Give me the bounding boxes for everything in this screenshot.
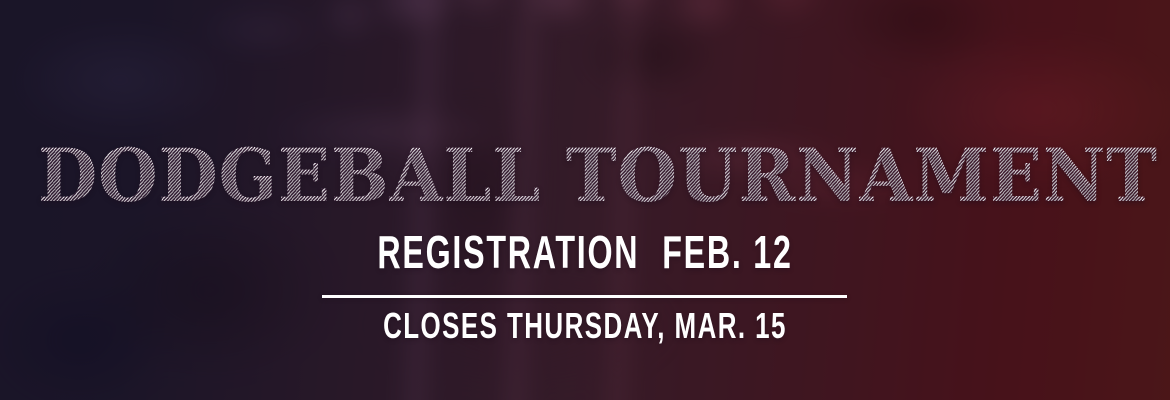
closing-text: CLOSES THURSDAY, MAR. 15 bbox=[383, 305, 787, 346]
section-divider bbox=[322, 295, 847, 298]
event-promo-banner: DODGEBALL TOURNAMENT REGISTRATION FEB. 1… bbox=[0, 0, 1170, 400]
registration-line: REGISTRATION FEB. 12 bbox=[176, 229, 995, 275]
banner-content: DODGEBALL TOURNAMENT REGISTRATION FEB. 1… bbox=[0, 0, 1170, 400]
registration-label: REGISTRATION bbox=[377, 226, 639, 278]
registration-spacer bbox=[639, 226, 662, 278]
registration-date: FEB. 12 bbox=[662, 226, 792, 278]
headline-text: DODGEBALL TOURNAMENT bbox=[38, 140, 1158, 213]
closing-line: CLOSES THURSDAY, MAR. 15 bbox=[164, 308, 1006, 344]
banner-headline: DODGEBALL TOURNAMENT bbox=[38, 140, 1132, 213]
